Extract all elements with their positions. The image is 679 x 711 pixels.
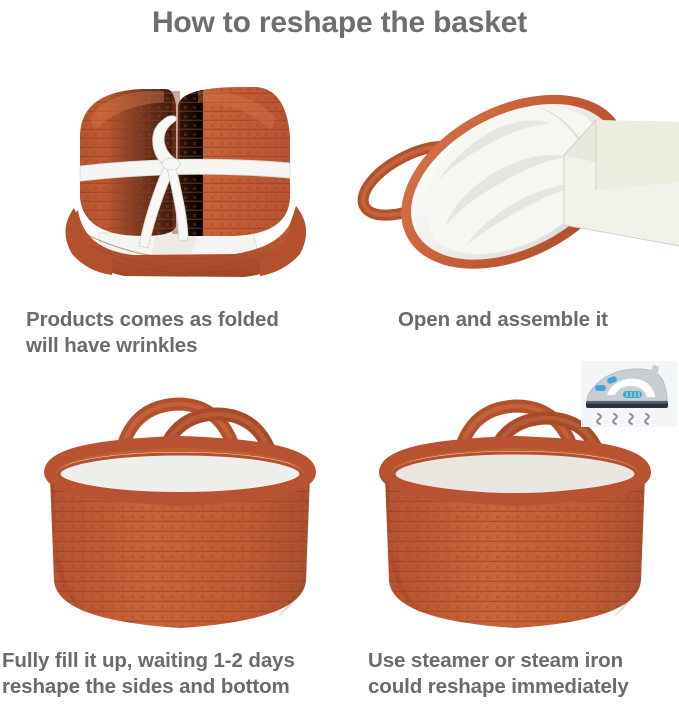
filled-basket-image	[18, 372, 343, 640]
infographic-page: How to reshape the basket	[0, 0, 679, 711]
divider-panel	[564, 120, 679, 246]
steam-iron-badge	[581, 361, 677, 427]
opened-basket-image	[350, 50, 679, 300]
page-title: How to reshape the basket	[0, 4, 679, 42]
folded-basket-image	[38, 58, 338, 293]
step-4-caption: Use steamer or steam iron could reshape …	[368, 648, 679, 700]
basket-body	[50, 442, 310, 628]
step-1-caption: Products comes as folded will have wrink…	[26, 307, 356, 359]
basket-body	[385, 442, 645, 628]
step-3-caption: Fully fill it up, waiting 1-2 days resha…	[2, 648, 362, 700]
step-2-caption: Open and assemble it	[398, 307, 678, 333]
